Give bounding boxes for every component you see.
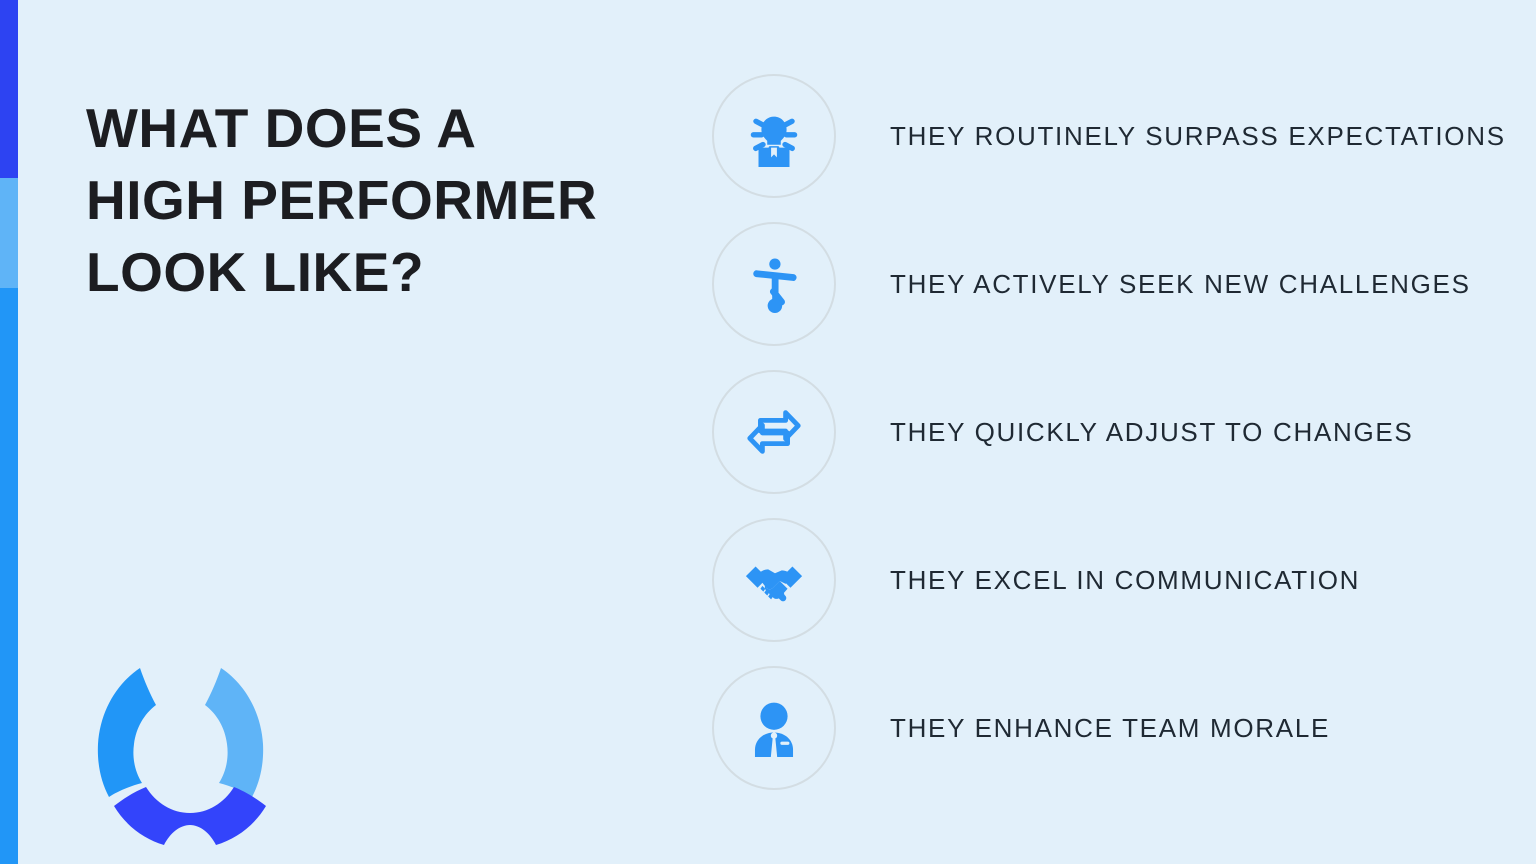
list-item-label: THEY EXCEL IN COMMUNICATION [890, 565, 1360, 596]
stripe-segment-blue [0, 288, 18, 864]
stripe-segment-indigo [0, 0, 18, 178]
list-item[interactable]: THEY EXCEL IN COMMUNICATION [712, 506, 1512, 654]
icon-circle [712, 74, 836, 198]
person-suit-tie-icon [745, 699, 803, 757]
page-title: WHAT DOES A HIGH PERFORMER LOOK LIKE? [86, 92, 616, 308]
slide-canvas: WHAT DOES A HIGH PERFORMER LOOK LIKE? [0, 0, 1536, 864]
three-petal-logo [78, 650, 283, 850]
list-item[interactable]: THEY ROUTINELY SURPASS EXPECTATIONS [712, 62, 1512, 210]
stripe-segment-light-blue [0, 178, 18, 288]
lightbulb-box-icon [743, 105, 805, 167]
handshake-icon [743, 549, 805, 611]
title-block: WHAT DOES A HIGH PERFORMER LOOK LIKE? [86, 92, 616, 308]
list-item-label: THEY QUICKLY ADJUST TO CHANGES [890, 417, 1413, 448]
attributes-list: THEY ROUTINELY SURPASS EXPECTATIONS [712, 62, 1512, 802]
exchange-arrows-icon [743, 401, 805, 463]
list-item[interactable]: THEY QUICKLY ADJUST TO CHANGES [712, 358, 1512, 506]
icon-circle [712, 370, 836, 494]
logo-petal-right [205, 668, 263, 797]
logo-petal-left [98, 668, 156, 797]
list-item-label: THEY ENHANCE TEAM MORALE [890, 713, 1330, 744]
person-balancing-ball-icon [745, 255, 803, 313]
accent-stripe [0, 0, 18, 864]
list-item-label: THEY ACTIVELY SEEK NEW CHALLENGES [890, 269, 1471, 300]
list-item[interactable]: THEY ENHANCE TEAM MORALE [712, 654, 1512, 802]
icon-circle [712, 518, 836, 642]
logo-petal-bottom [114, 787, 266, 845]
icon-circle [712, 666, 836, 790]
list-item[interactable]: THEY ACTIVELY SEEK NEW CHALLENGES [712, 210, 1512, 358]
icon-circle [712, 222, 836, 346]
list-item-label: THEY ROUTINELY SURPASS EXPECTATIONS [890, 121, 1506, 152]
